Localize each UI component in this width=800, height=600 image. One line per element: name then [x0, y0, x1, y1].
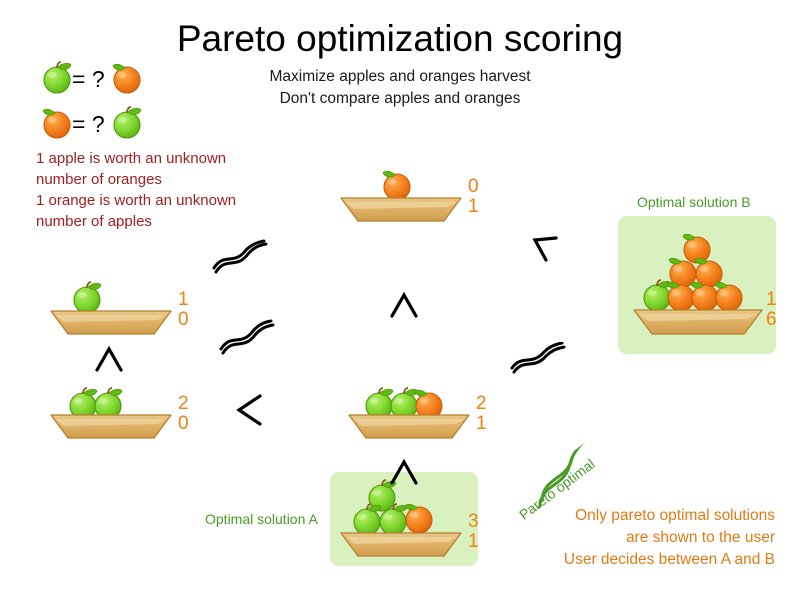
basket-1-6[interactable]: 1 6 — [626, 228, 776, 351]
basket-score: 2 1 — [476, 394, 487, 434]
footer-text: Only pareto optimal solutions are shown … — [470, 505, 775, 571]
score-oranges: 1 — [468, 197, 479, 217]
cmp-approx-mid-left — [217, 315, 287, 366]
cmp-less-horizontal — [232, 390, 266, 435]
basket-1-0[interactable]: 1 0 — [46, 278, 176, 343]
cmp-approx-top-left — [210, 238, 280, 285]
explanation-line-3: 1 orange is worth an unknown — [36, 190, 296, 211]
score-apples: 2 — [178, 394, 189, 414]
orange-icon — [38, 103, 76, 146]
legend-row-apple-equals-orange: = ? — [38, 58, 146, 101]
apple-icon — [38, 58, 76, 101]
slide-canvas: Pareto optimization scoring Maximize app… — [0, 0, 800, 600]
optimal-solution-b-label: Optimal solution B — [637, 194, 751, 210]
basket-0-1[interactable]: 0 1 — [336, 165, 466, 230]
basket-score: 1 6 — [766, 290, 777, 330]
explanation-text: 1 apple is worth an unknown number of or… — [36, 148, 296, 232]
cmp-less-up-a — [387, 455, 421, 494]
footer-line-3: User decides between A and B — [470, 549, 775, 571]
footer-line-1: Only pareto optimal solutions — [470, 505, 775, 527]
legend-row-orange-equals-apple: = ? — [38, 103, 146, 146]
basket-2-1[interactable]: 2 1 — [344, 382, 484, 447]
optimal-solution-a-label: Optimal solution A — [205, 511, 318, 527]
score-oranges: 1 — [476, 414, 487, 434]
legend-equals-question-1: = ? — [72, 66, 105, 93]
score-apples: 1 — [178, 290, 189, 310]
basket-2-0[interactable]: 2 0 — [46, 382, 176, 447]
score-oranges: 6 — [766, 310, 777, 330]
cmp-less-up-mid — [387, 288, 421, 327]
subtitle-line-1: Maximize apples and oranges harvest — [230, 66, 570, 88]
score-apples: 0 — [468, 177, 479, 197]
subtitle-line-2: Don't compare apples and oranges — [230, 88, 570, 110]
apple-icon — [108, 103, 146, 146]
basket-score: 2 0 — [178, 394, 189, 434]
explanation-line-2: number of oranges — [36, 169, 296, 190]
cmp-less-up-left — [92, 342, 126, 381]
cmp-approx-right — [508, 342, 578, 389]
subtitle: Maximize apples and oranges harvest Don'… — [230, 66, 570, 110]
orange-icon — [108, 58, 146, 101]
explanation-line-1: 1 apple is worth an unknown — [36, 148, 296, 169]
footer-line-2: are shown to the user — [470, 527, 775, 549]
legend-equals-question-2: = ? — [72, 111, 105, 138]
score-apples: 2 — [476, 394, 487, 414]
score-apples: 1 — [766, 290, 777, 310]
cmp-less-diagonal-b — [528, 232, 566, 275]
basket-score: 0 1 — [468, 177, 479, 217]
basket-score: 1 0 — [178, 290, 189, 330]
page-title: Pareto optimization scoring — [0, 18, 800, 60]
explanation-line-4: number of apples — [36, 211, 296, 232]
score-oranges: 0 — [178, 414, 189, 434]
score-oranges: 0 — [178, 310, 189, 330]
